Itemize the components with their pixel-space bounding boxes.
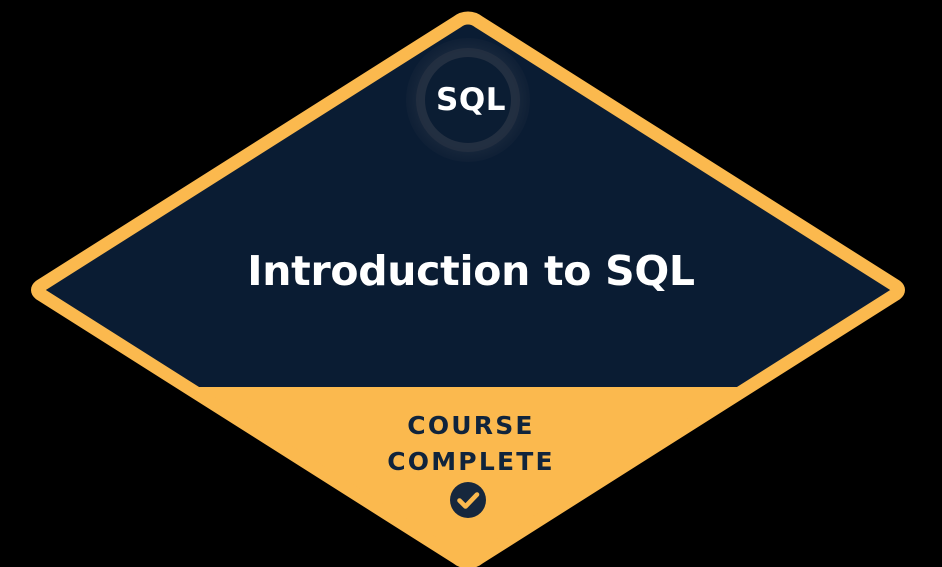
diamond-badge-graphic xyxy=(0,0,942,567)
diamond-lower-fill xyxy=(0,387,942,567)
check-circle-background xyxy=(450,482,486,518)
course-completion-badge[interactable]: SQL Introduction to SQL COURSE COMPLETE xyxy=(0,0,942,567)
topic-badge-inner-circle xyxy=(425,57,511,143)
sql-topic-badge-icon xyxy=(406,38,530,162)
check-circle-icon xyxy=(450,482,486,518)
